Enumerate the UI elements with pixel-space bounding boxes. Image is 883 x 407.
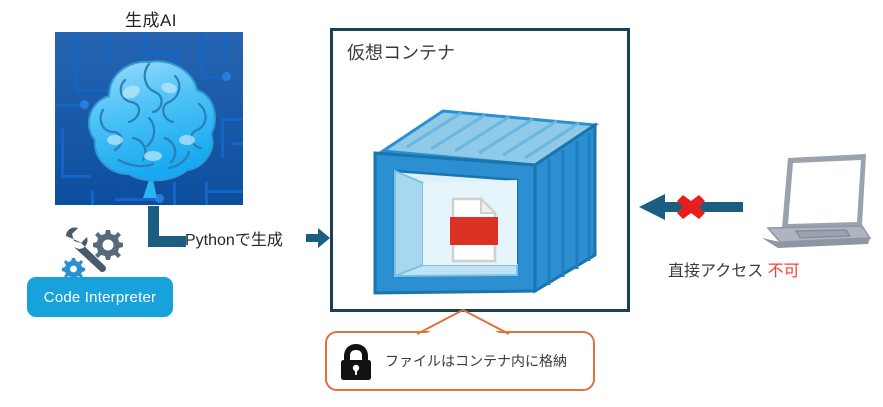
file-storage-text: ファイルはコンテナ内に格納	[385, 331, 567, 391]
direct-access-label: 直接アクセス 不可	[668, 257, 800, 281]
direct-access-deny: 不可	[768, 263, 800, 280]
virtual-container-title: 仮想コンテナ	[347, 39, 455, 65]
wrench-and-gear-icon	[60, 226, 126, 278]
brain-circuit-illustration	[55, 32, 243, 205]
python-generate-label: Pythonで生成	[185, 226, 283, 250]
blocked-access-arrow	[639, 189, 743, 225]
shipping-container-with-file-illustration	[365, 103, 601, 303]
direct-access-text: 直接アクセス	[668, 263, 763, 280]
brain-glyph	[69, 48, 229, 198]
gen-ai-title: 生成AI	[56, 6, 246, 31]
code-interpreter-badge[interactable]: Code Interpreter	[27, 277, 173, 317]
file-storage-callout: ファイルはコンテナ内に格納	[325, 331, 595, 391]
padlock-icon	[339, 342, 373, 380]
diagram-canvas: 生成AI	[0, 0, 883, 407]
document-icon	[450, 199, 498, 261]
virtual-container-panel: 仮想コンテナ	[330, 28, 630, 312]
l-shaped-connector	[148, 206, 188, 248]
laptop-illustration	[758, 152, 876, 252]
right-arrow-icon	[306, 228, 330, 248]
code-interpreter-label: Code Interpreter	[44, 289, 156, 306]
